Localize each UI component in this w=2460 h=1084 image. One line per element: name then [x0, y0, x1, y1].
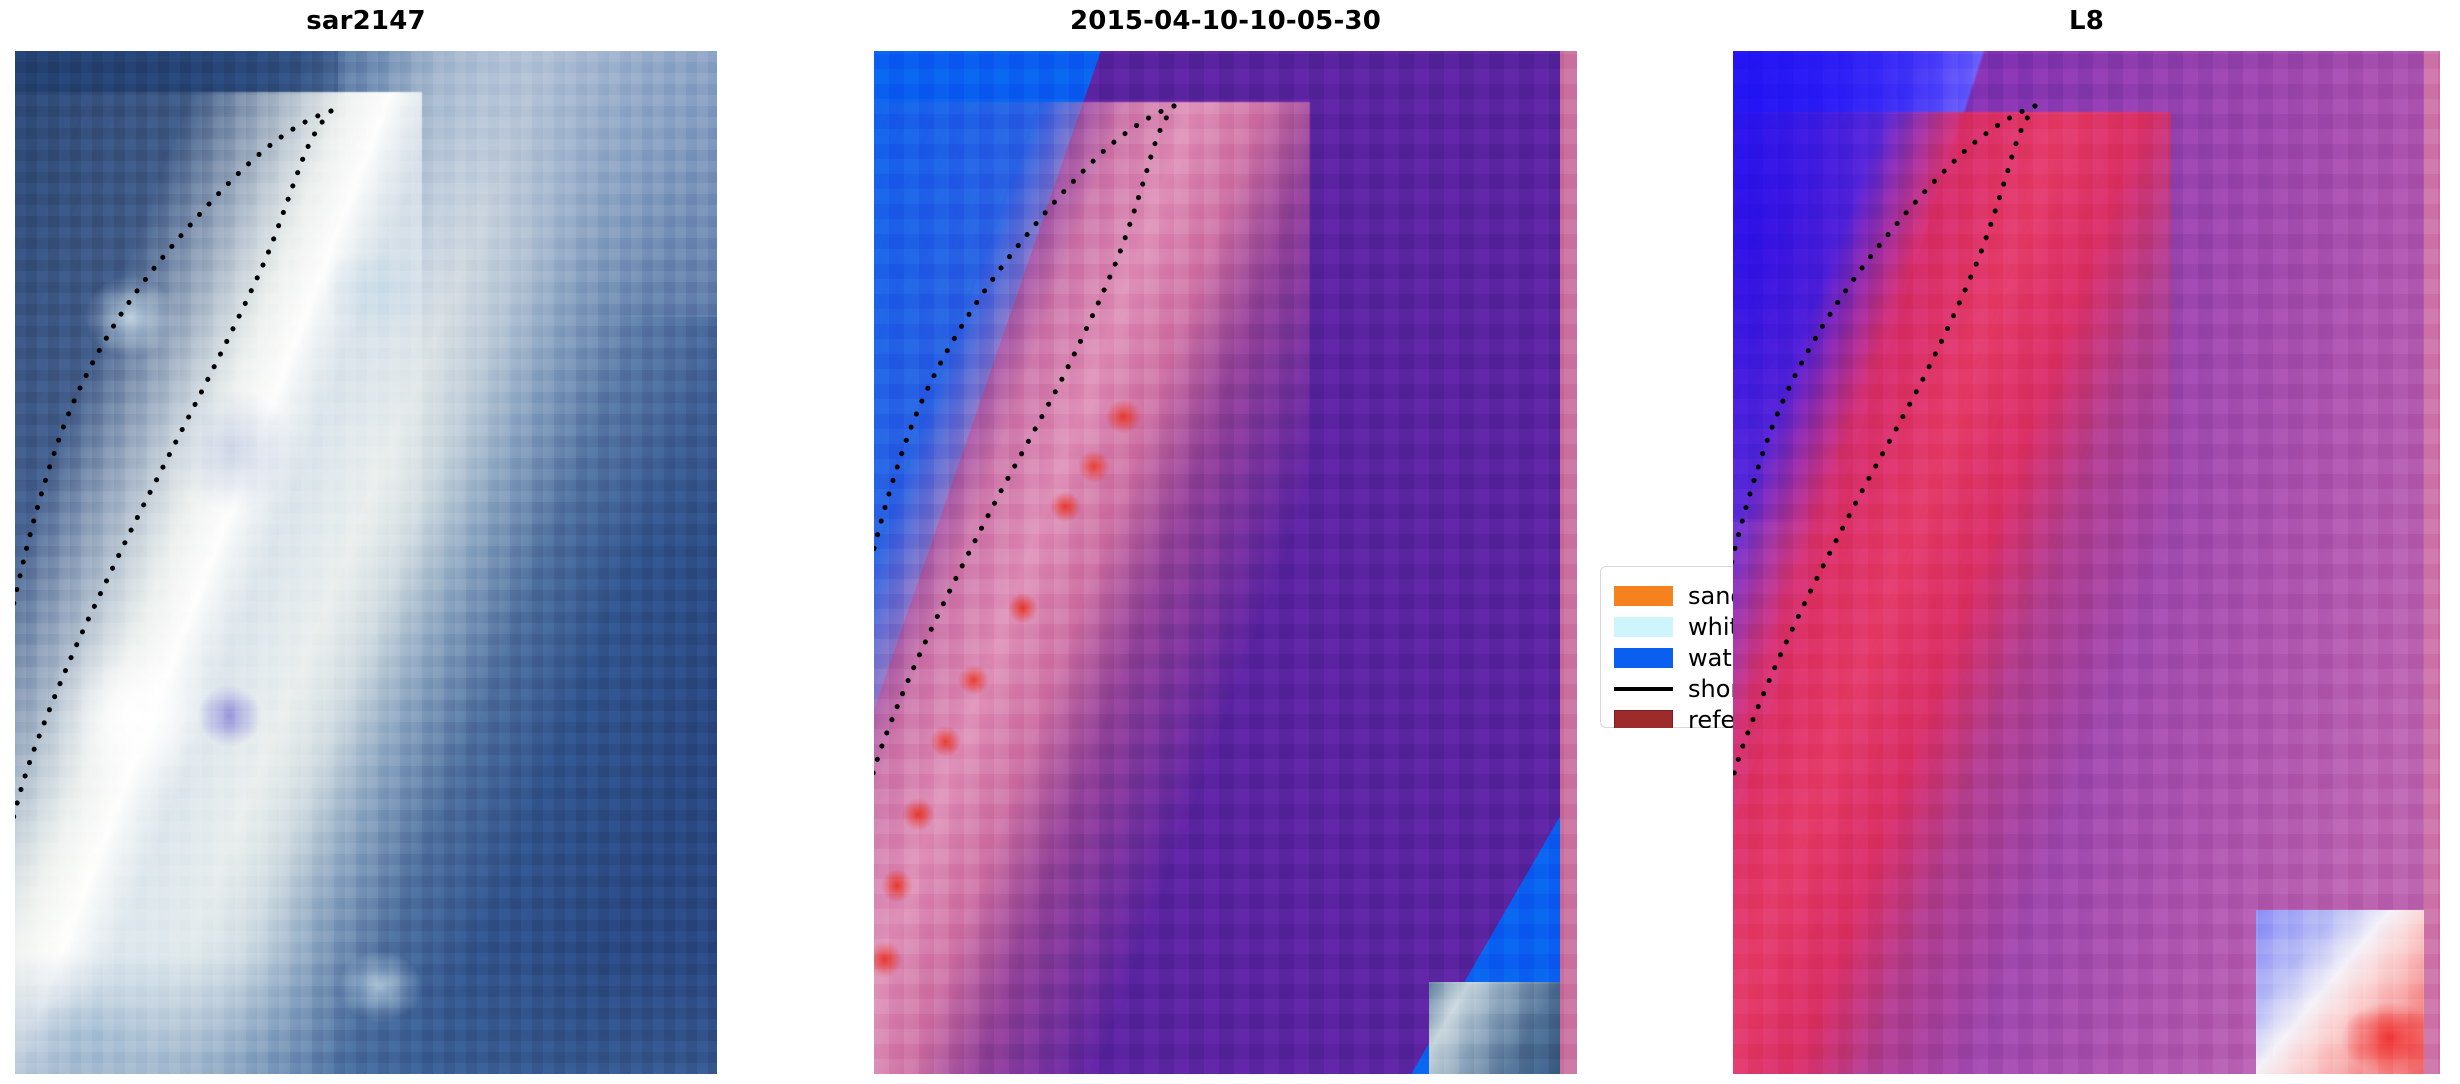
sar-bottom-shadow: [15, 951, 717, 1074]
classified-reference-pixel-6: [930, 726, 961, 757]
classified-reference-pixel-4: [1008, 593, 1039, 624]
classified-reference-pixel-5: [958, 665, 989, 696]
sar-violet-pixel-cluster: [198, 685, 261, 746]
panel-classified-image: [874, 51, 1577, 1074]
sar-bright-patch-upper: [169, 389, 295, 512]
panel-sar-image: [15, 51, 717, 1074]
figure-root: sar2147: [0, 0, 2460, 1084]
sar-spot-a: [324, 245, 436, 337]
sar-spot-b: [85, 276, 176, 358]
panel-classified: 2015-04-10-10-05-30: [874, 0, 1577, 1084]
panel-l8-image: [1733, 51, 2440, 1074]
legend-label-whitewater: whitewater: [1688, 615, 1733, 639]
sand-swatch-icon: [1614, 586, 1673, 606]
water-swatch-icon: [1614, 648, 1673, 668]
classified-reference-pixel-8: [881, 869, 913, 902]
panel-l8-axes: [1733, 51, 2440, 1074]
legend-box: sand whitewater water shoreline referenc…: [1600, 566, 1733, 728]
reference-swatch-icon: [1614, 710, 1673, 729]
legend-label-reference: reference: [1688, 708, 1733, 729]
panel-sar-title: sar2147: [15, 4, 717, 38]
whitewater-swatch-icon: [1614, 617, 1673, 637]
classified-reference-pixel-2: [1078, 450, 1110, 483]
legend-item-whitewater[interactable]: whitewater: [1614, 611, 1733, 642]
sar-sand-spit: [15, 92, 422, 1074]
legend-item-sand[interactable]: sand: [1614, 580, 1733, 611]
legend-panel: sand whitewater water shoreline referenc…: [1600, 566, 1733, 728]
classified-reference-pixel-9: [874, 941, 902, 978]
classified-reference-pixel-7: [902, 798, 934, 831]
shoreline-line-icon: [1614, 687, 1673, 691]
legend-item-water[interactable]: water: [1614, 642, 1733, 673]
sar-light-upper-right: [422, 51, 717, 317]
legend-item-reference[interactable]: reference: [1614, 704, 1733, 728]
panel-l8: L8: [1733, 0, 2440, 1084]
classified-reference-pixel-1: [1106, 399, 1141, 434]
panel-sar: sar2147: [15, 0, 717, 1084]
panel-classified-axes: [874, 51, 1577, 1074]
panel-classified-title: 2015-04-10-10-05-30: [874, 4, 1577, 38]
l8-right-edge-strip: [2424, 51, 2440, 1074]
legend-label-sand: sand: [1688, 584, 1733, 608]
classified-right-edge-strip: [1560, 51, 1577, 1074]
legend-label-water: water: [1688, 646, 1733, 670]
panel-l8-title: L8: [1733, 4, 2440, 38]
classified-sand-class: [874, 102, 1310, 1074]
legend-label-shoreline: shoreline: [1688, 677, 1733, 701]
classified-reference-pixel-3: [1050, 491, 1081, 522]
panel-sar-axes: [15, 51, 717, 1074]
classified-lower-right-patch: [1429, 982, 1577, 1074]
l8-sand-body: [1733, 112, 2171, 1074]
legend-item-shoreline[interactable]: shoreline: [1614, 673, 1733, 704]
